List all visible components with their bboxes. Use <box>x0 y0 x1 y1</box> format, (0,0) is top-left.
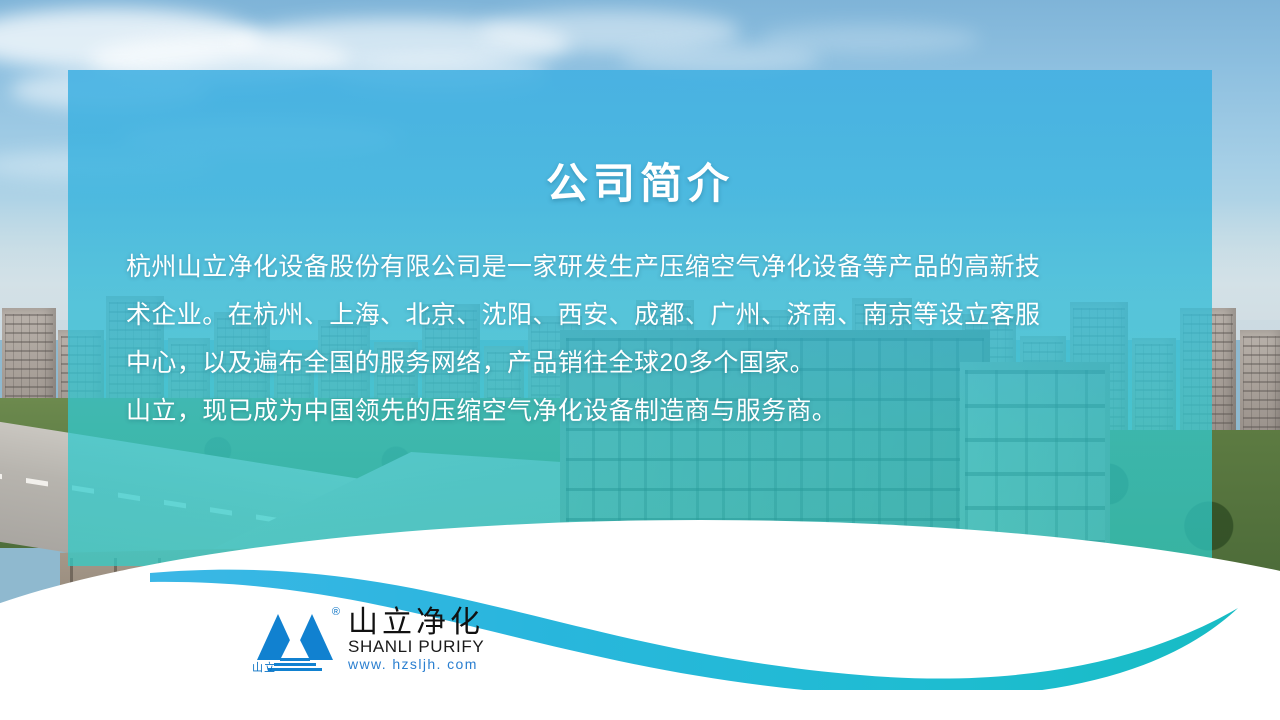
mountain-logo-icon: ® 山立 <box>252 608 338 674</box>
profile-line-1: 杭州山立净化设备股份有限公司是一家研发生产压缩空气净化设备等产品的高新技 <box>126 243 1106 291</box>
company-profile-text: 杭州山立净化设备股份有限公司是一家研发生产压缩空气净化设备等产品的高新技 术企业… <box>126 243 1106 435</box>
swoosh-ribbon <box>0 500 1280 690</box>
logo-company-name-cn: 山立净化 <box>348 607 484 639</box>
profile-line-2: 术企业。在杭州、上海、北京、沈阳、西安、成都、广州、济南、南京等设立客服 <box>126 291 1106 339</box>
logo-website-url: www. hzsljh. com <box>348 657 484 672</box>
cloud-shape <box>760 24 980 54</box>
profile-line-4: 山立，现已成为中国领先的压缩空气净化设备制造商与服务商。 <box>126 387 1106 435</box>
logo-company-name-en: SHANLI PURIFY <box>348 638 484 657</box>
company-logo: ® 山立 山立净化 SHANLI PURIFY www. hzsljh. com <box>252 607 484 674</box>
logo-mark-caption: 山立 <box>252 663 276 674</box>
page-title: 公司简介 <box>0 150 1280 211</box>
logo-wordmark: 山立净化 SHANLI PURIFY www. hzsljh. com <box>348 607 484 674</box>
profile-line-3: 中心，以及遍布全国的服务网络，产品销往全球20多个国家。 <box>126 339 1106 387</box>
registered-trademark-icon: ® <box>332 606 340 618</box>
presentation-slide: 公司简介 杭州山立净化设备股份有限公司是一家研发生产压缩空气净化设备等产品的高新… <box>0 0 1280 720</box>
